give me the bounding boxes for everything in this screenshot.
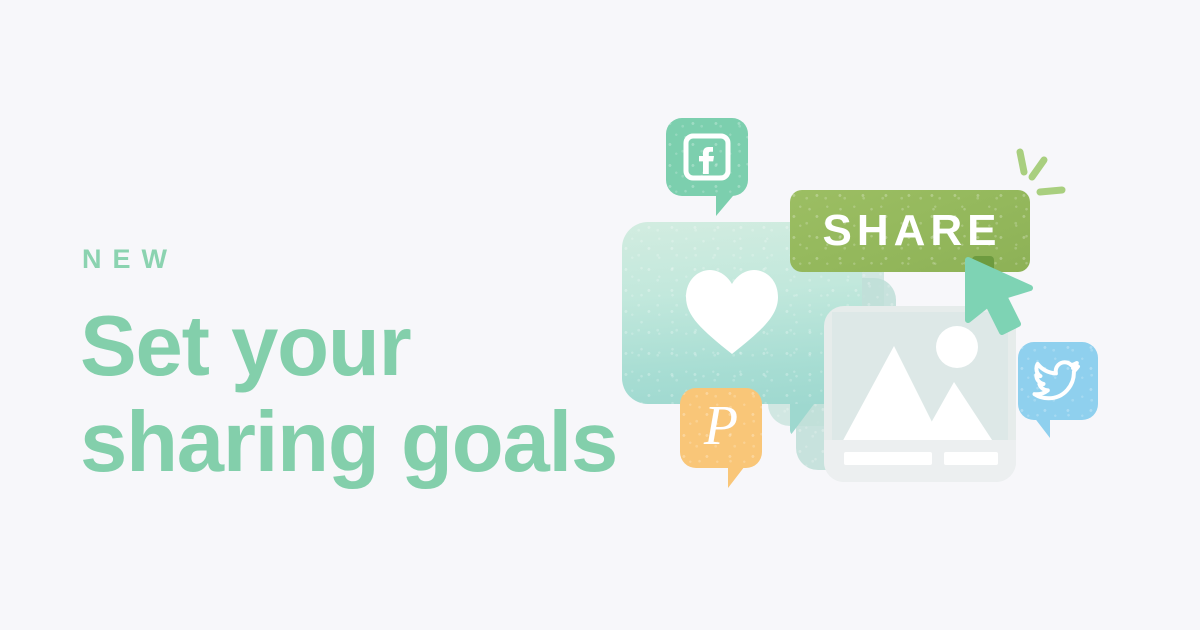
page-title: Set your sharing goals: [80, 299, 640, 491]
facebook-icon: [683, 133, 731, 181]
cursor-arrow-icon: [964, 254, 1034, 334]
banner-root: NEW Set your sharing goals: [0, 0, 1200, 630]
heart-icon: [684, 268, 780, 356]
pinterest-icon: P: [704, 398, 738, 454]
social-sharing-illustration: SHARE: [600, 100, 1160, 520]
caption-bar-short: [944, 452, 998, 465]
headline-line-2: sharing goals: [80, 395, 640, 491]
twitter-bubble[interactable]: [1018, 342, 1098, 420]
share-button-label: SHARE: [822, 209, 1001, 253]
twitter-bird-icon: [1035, 360, 1081, 402]
pinterest-bubble[interactable]: P: [680, 388, 762, 468]
eyebrow-label: NEW: [82, 246, 640, 273]
headline-line-1: Set your: [80, 299, 640, 395]
caption-bar-long: [844, 452, 932, 465]
mountain-icon: [832, 332, 1008, 446]
sparkle-lines-icon: [1010, 148, 1074, 208]
facebook-bubble[interactable]: [666, 118, 748, 196]
copy-block: NEW Set your sharing goals: [80, 246, 640, 491]
